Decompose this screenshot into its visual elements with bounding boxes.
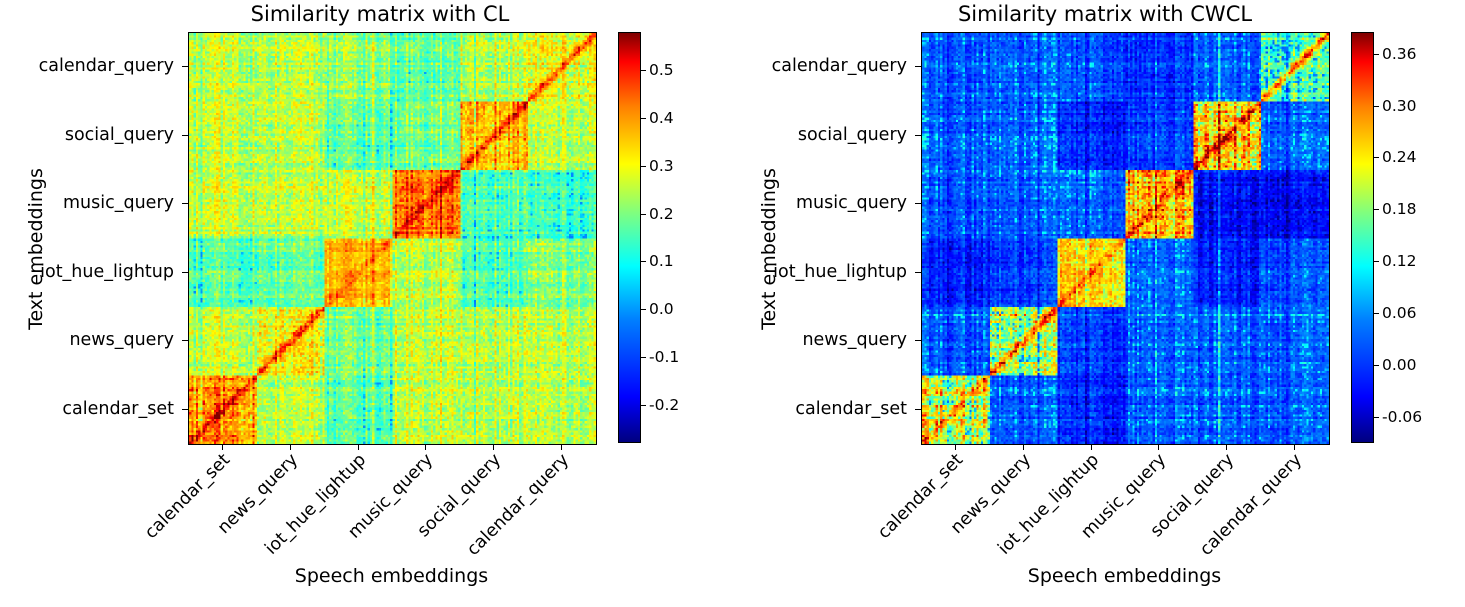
x-tick-mark: [358, 444, 359, 450]
y-tick-label: iot_hue_lightup: [773, 262, 907, 282]
y-tick-mark: [915, 135, 921, 136]
heatmap-axes-cwcl: [921, 32, 1330, 445]
colorbar-tick-mark: [641, 405, 646, 406]
colorbar-tick-label: 0.2: [649, 205, 674, 223]
y-tick-label: music_query: [63, 193, 174, 213]
colorbar-tick-mark: [1374, 417, 1379, 418]
colorbar-cwcl: 0.360.300.240.180.120.060.00-0.06: [1351, 32, 1374, 443]
plot-title-cwcl: Similarity matrix with CWCL: [733, 2, 1465, 26]
colorbar-tick-label: 0.24: [1382, 148, 1417, 166]
y-tick-mark: [182, 409, 188, 410]
colorbar-tick-mark: [1374, 106, 1379, 107]
x-axis-title-cwcl: Speech embeddings: [921, 565, 1328, 587]
colorbar-tick-label: 0.18: [1382, 200, 1417, 218]
x-tick-mark: [493, 444, 494, 450]
y-tick-label: news_query: [69, 330, 174, 350]
panel-cwcl: Similarity matrix with CWCL calendar_que…: [733, 0, 1465, 607]
heatmap-axes-cl: [188, 32, 597, 445]
x-tick-mark: [425, 444, 426, 450]
y-tick-label: news_query: [802, 330, 907, 350]
y-tick-label: calendar_query: [39, 56, 174, 76]
figure-canvas: Similarity matrix with CL calendar_query…: [0, 0, 1465, 607]
colorbar-tick-label: -0.2: [649, 396, 679, 414]
colorbar-tick-label: 0.3: [649, 157, 674, 175]
x-tick-labels-cwcl: calendar_setnews_queryiot_hue_lightupmus…: [921, 444, 1328, 564]
y-tick-label: social_query: [65, 125, 174, 145]
colorbar-tick-mark: [1374, 54, 1379, 55]
colorbar-tick-label: 0.00: [1382, 356, 1417, 374]
y-tick-mark: [182, 203, 188, 204]
colorbar-tick-label: 0.0: [649, 300, 674, 318]
x-tick-mark: [1023, 444, 1024, 450]
plot-title-cl: Similarity matrix with CL: [0, 2, 746, 26]
x-tick-labels-cl: calendar_setnews_queryiot_hue_lightupmus…: [188, 444, 595, 564]
colorbar-tick-mark: [641, 357, 646, 358]
colorbar-tick-label: 0.4: [649, 109, 674, 127]
y-tick-label: calendar_query: [772, 56, 907, 76]
colorbar-tick-mark: [641, 261, 646, 262]
heatmap-image-cl: [189, 33, 596, 444]
y-tick-mark: [915, 203, 921, 204]
colorbar-tick-label: 0.06: [1382, 304, 1417, 322]
y-axis-title-cl: Text embeddings: [25, 124, 47, 374]
y-tick-mark: [915, 66, 921, 67]
colorbar-tick-mark: [1374, 365, 1379, 366]
y-tick-label: iot_hue_lightup: [40, 262, 174, 282]
colorbar-tick-mark: [641, 214, 646, 215]
y-axis-title-cwcl: Text embeddings: [758, 124, 780, 374]
colorbar-tick-label: 0.5: [649, 61, 674, 79]
colorbar-gradient-cl: [618, 32, 641, 443]
colorbar-tick-label: 0.1: [649, 252, 674, 270]
y-tick-label: calendar_set: [62, 399, 174, 419]
panel-cl: Similarity matrix with CL calendar_query…: [0, 0, 732, 607]
colorbar-tick-label: 0.30: [1382, 97, 1417, 115]
colorbar-tick-mark: [641, 309, 646, 310]
y-tick-label: social_query: [798, 125, 907, 145]
x-tick-mark: [1226, 444, 1227, 450]
y-tick-mark: [915, 340, 921, 341]
y-tick-mark: [182, 272, 188, 273]
colorbar-tick-mark: [1374, 209, 1379, 210]
colorbar-tick-label: 0.36: [1382, 45, 1417, 63]
x-tick-mark: [955, 444, 956, 450]
colorbar-tick-mark: [1374, 261, 1379, 262]
y-tick-label: music_query: [796, 193, 907, 213]
colorbar-gradient-cwcl: [1351, 32, 1374, 443]
colorbar-tick-mark: [641, 166, 646, 167]
colorbar-tick-mark: [641, 70, 646, 71]
x-tick-mark: [561, 444, 562, 450]
y-tick-mark: [182, 340, 188, 341]
colorbar-tick-mark: [1374, 157, 1379, 158]
y-tick-mark: [182, 135, 188, 136]
x-tick-mark: [222, 444, 223, 450]
x-axis-title-cl: Speech embeddings: [188, 565, 595, 587]
heatmap-image-cwcl: [922, 33, 1329, 444]
x-tick-mark: [1158, 444, 1159, 450]
y-tick-label: calendar_set: [795, 399, 907, 419]
colorbar-tick-label: -0.1: [649, 348, 679, 366]
colorbar-tick-mark: [641, 118, 646, 119]
x-tick-mark: [1294, 444, 1295, 450]
x-tick-mark: [290, 444, 291, 450]
colorbar-tick-label: -0.06: [1382, 408, 1422, 426]
y-tick-mark: [915, 409, 921, 410]
y-tick-mark: [182, 66, 188, 67]
colorbar-tick-mark: [1374, 313, 1379, 314]
x-tick-mark: [1091, 444, 1092, 450]
colorbar-tick-label: 0.12: [1382, 252, 1417, 270]
colorbar-cl: 0.50.40.30.20.10.0-0.1-0.2: [618, 32, 641, 443]
y-tick-mark: [915, 272, 921, 273]
